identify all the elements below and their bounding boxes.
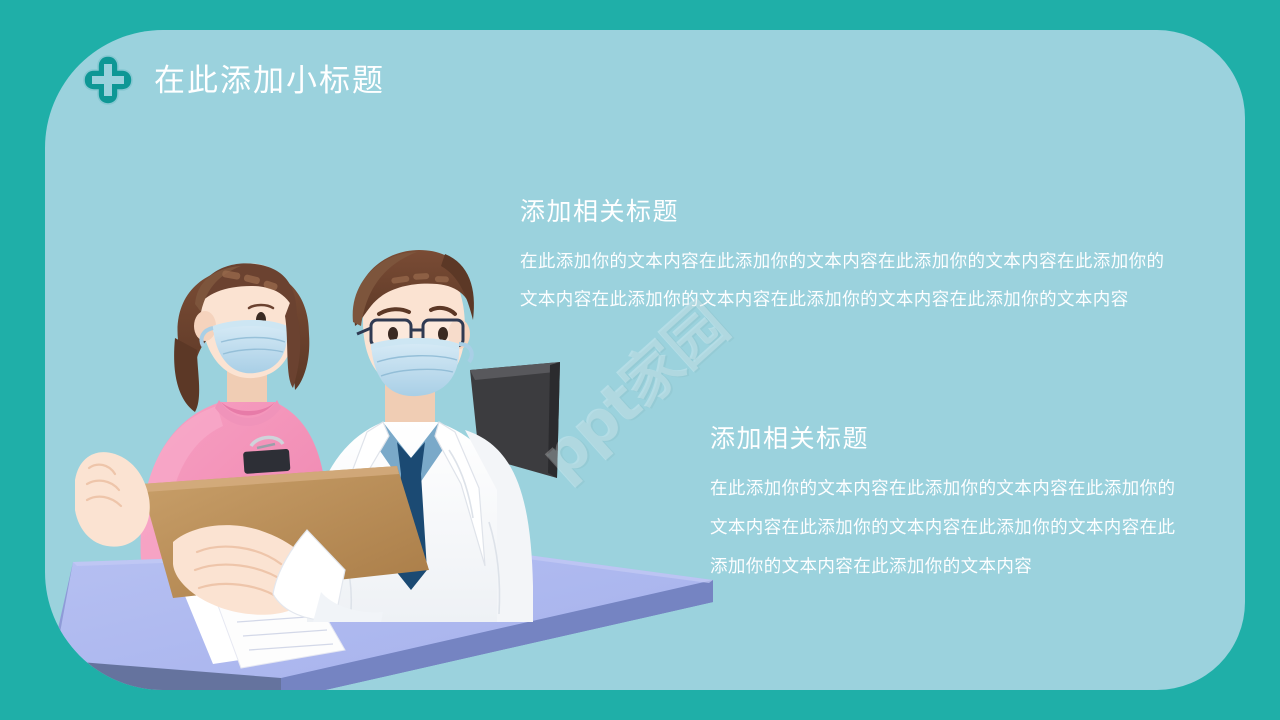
content-block-2: 添加相关标题 在此添加你的文本内容在此添加你的文本内容在此添加你的文本内容在此添… — [710, 425, 1180, 586]
content-block-1: 添加相关标题 在此添加你的文本内容在此添加你的文本内容在此添加你的文本内容在此添… — [520, 198, 1180, 318]
clover-cross-medical-icon — [80, 52, 136, 108]
slide-card: 在此添加小标题 — [45, 30, 1245, 690]
content-block-1-heading: 添加相关标题 — [520, 198, 1180, 228]
slide-root: 在此添加小标题 — [0, 0, 1280, 720]
content-block-2-heading: 添加相关标题 — [710, 425, 1180, 455]
slide-header: 在此添加小标题 — [80, 52, 385, 108]
page-title: 在此添加小标题 — [154, 65, 385, 96]
content-block-2-body: 在此添加你的文本内容在此添加你的文本内容在此添加你的文本内容在此添加你的文本内容… — [710, 469, 1180, 586]
doctor-left-hand — [75, 452, 150, 547]
content-block-1-body: 在此添加你的文本内容在此添加你的文本内容在此添加你的文本内容在此添加你的文本内容… — [520, 242, 1180, 318]
